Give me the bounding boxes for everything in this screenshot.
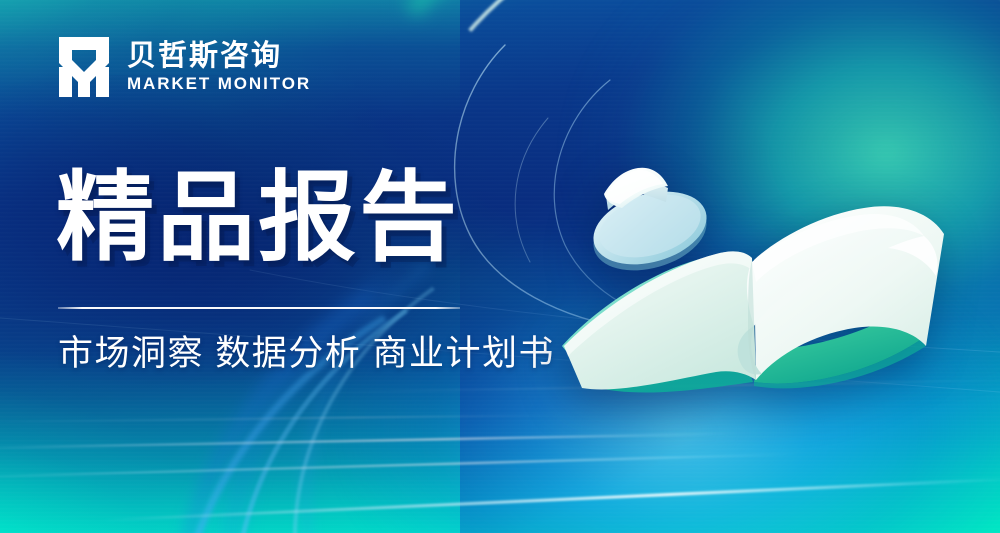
brand-name-cn: 贝哲斯咨询 (127, 41, 311, 71)
title-divider (58, 307, 460, 309)
market-monitor-m-logo-icon (58, 36, 110, 98)
promo-banner: 贝哲斯咨询 MARKET MONITOR 精品报告 市场洞察 数据分析 商业计划… (0, 0, 1000, 533)
open-book-icon (548, 150, 968, 440)
page-subtitle: 市场洞察 数据分析 商业计划书 (58, 332, 555, 376)
brand-name-en: MARKET MONITOR (127, 75, 311, 93)
page-title: 精品报告 (56, 168, 460, 266)
brand-logo-text: 贝哲斯咨询 MARKET MONITOR (127, 41, 311, 92)
brand-logo[interactable]: 贝哲斯咨询 MARKET MONITOR (58, 36, 311, 98)
banner-content: 贝哲斯咨询 MARKET MONITOR 精品报告 市场洞察 数据分析 商业计划… (0, 0, 1000, 533)
open-book-illustration (548, 150, 968, 440)
